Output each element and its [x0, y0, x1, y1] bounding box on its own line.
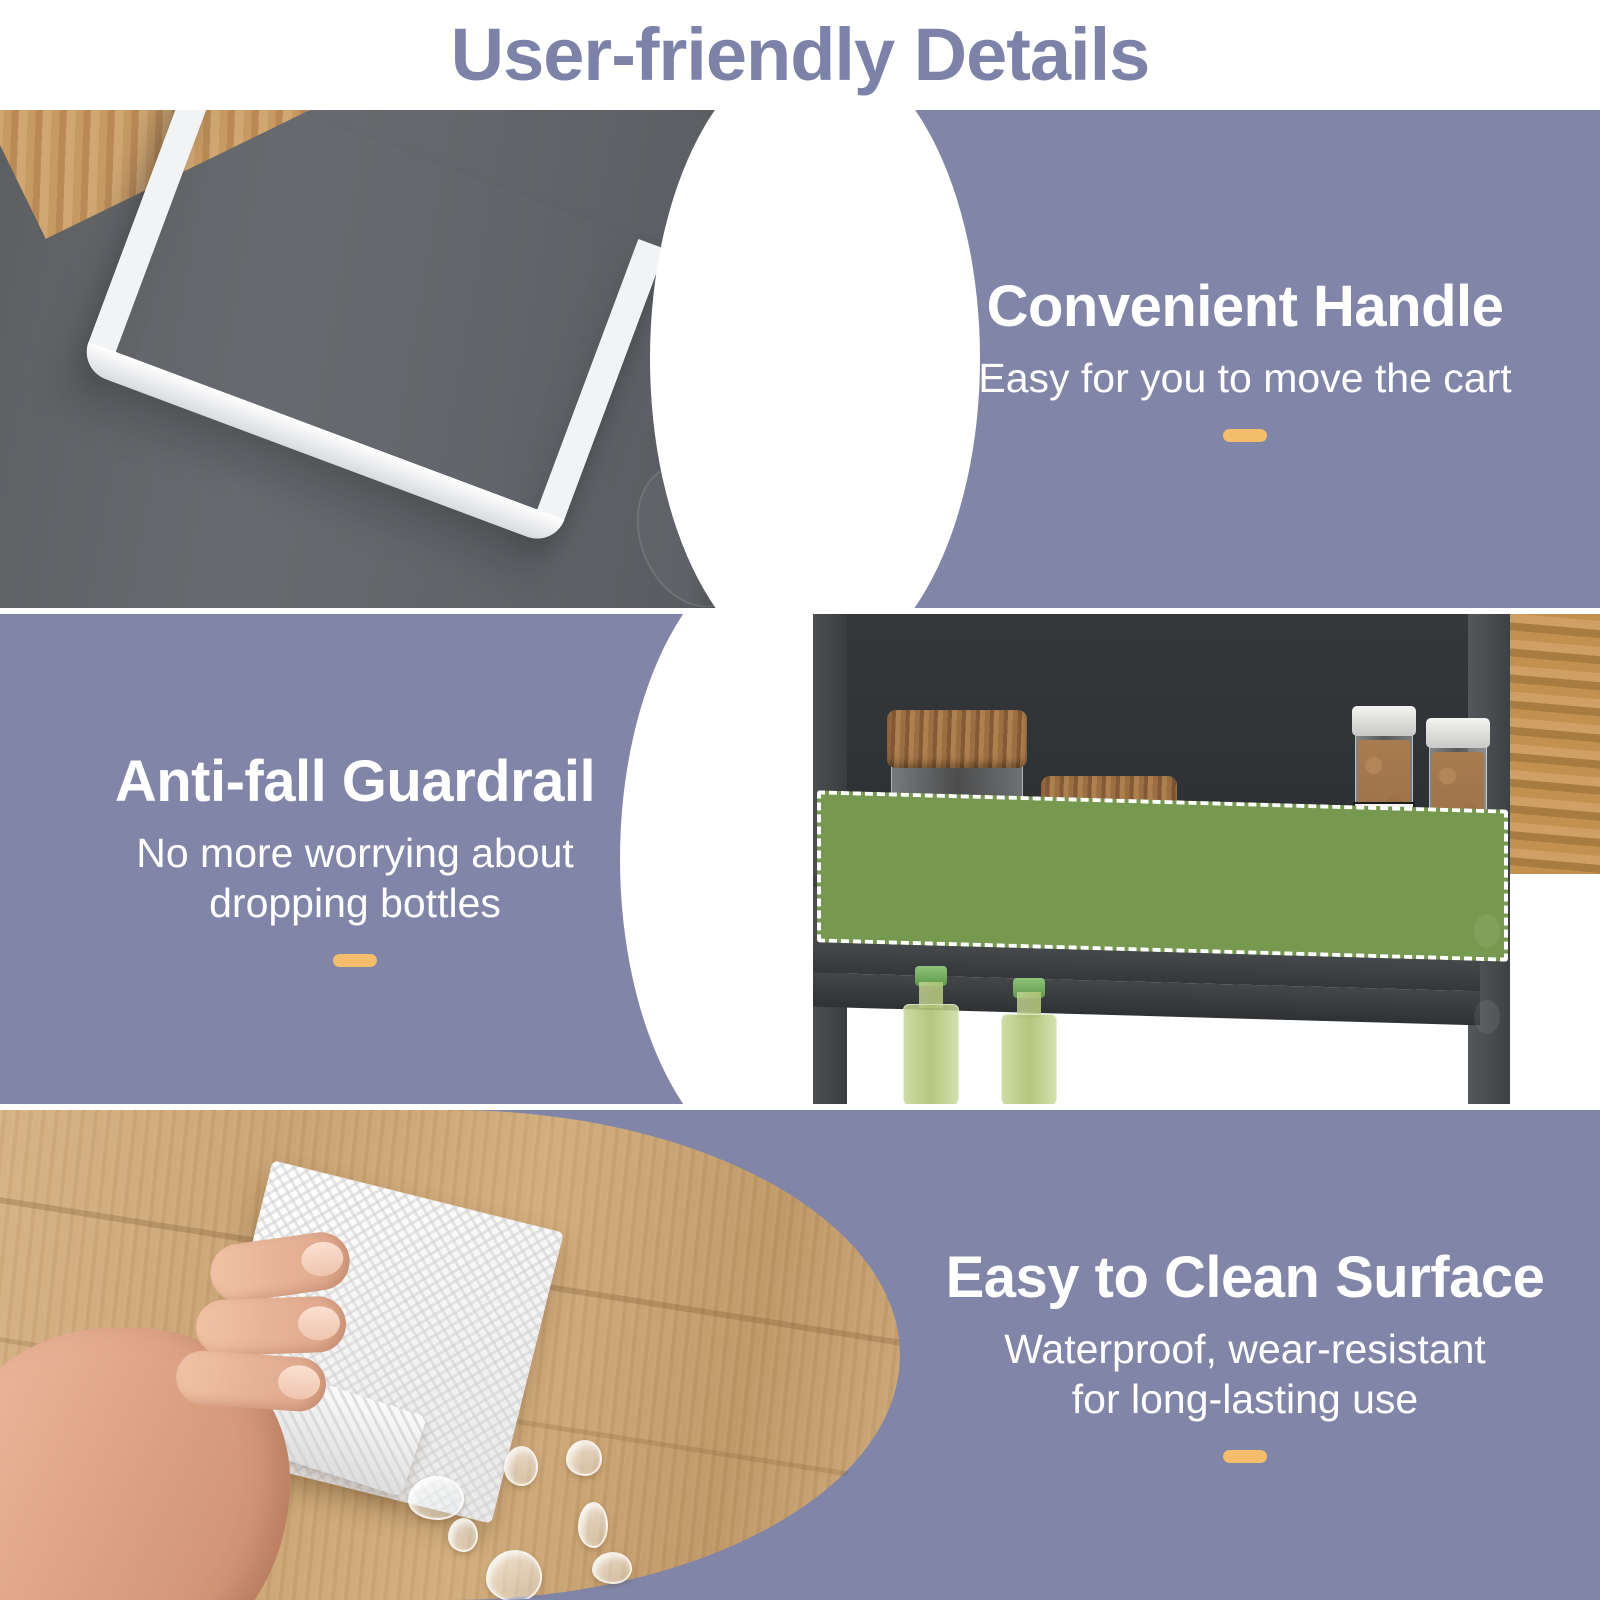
water-droplet — [614, 1588, 642, 1600]
fingernail — [297, 1306, 340, 1341]
feature-subtext-line-2: for long-lasting use — [1072, 1374, 1418, 1424]
feature-subtext-line-1: Easy for you to move the cart — [978, 353, 1511, 403]
feature-heading: Easy to Clean Surface — [946, 1247, 1545, 1310]
page-title: User-friendly Details — [451, 18, 1150, 92]
shelf-unit: SMOKED ALMOND SMOKED ALMOND — [795, 614, 1600, 1104]
spice-bottle-cap — [1352, 706, 1416, 736]
water-droplet — [578, 1502, 608, 1548]
accent-dash — [1223, 429, 1267, 442]
water-droplet — [504, 1446, 538, 1486]
water-droplet — [408, 1476, 464, 1520]
guardrail-photo: SMOKED ALMOND SMOKED ALMOND — [795, 614, 1600, 1104]
shelf-hole-details — [1474, 914, 1504, 1104]
green-bottle — [903, 968, 959, 1104]
feature-heading: Anti-fall Guardrail — [115, 751, 595, 814]
green-bottle — [1001, 980, 1057, 1104]
bottle-body — [1001, 1014, 1057, 1104]
finger — [174, 1349, 327, 1413]
water-droplet — [486, 1550, 542, 1600]
feature-subtext-line-1: Waterproof, wear-resistant — [1004, 1324, 1486, 1374]
guardrail-text-block: Anti-fall Guardrail No more worrying abo… — [0, 614, 700, 1104]
feature-panel-easy-to-clean-surface: Easy to Clean Surface Waterproof, wear-r… — [0, 1110, 1600, 1600]
handle-text-block: Convenient Handle Easy for you to move t… — [900, 110, 1600, 608]
accent-dash — [1223, 1450, 1267, 1463]
feature-subtext-line-1: No more worrying about — [136, 828, 574, 878]
spice-bottle-cap — [1426, 718, 1490, 748]
infographic-page: User-friendly Details Convenient Handle … — [0, 0, 1600, 1600]
guardrail-highlight-callout — [817, 790, 1508, 961]
feature-panel-anti-fall-guardrail: Anti-fall Guardrail No more worrying abo… — [0, 614, 1600, 1104]
feature-subtext-line-2: dropping bottles — [209, 878, 501, 928]
finger — [195, 1295, 347, 1356]
jar-wood-lid — [887, 710, 1027, 768]
fingernail — [299, 1239, 345, 1279]
water-droplet — [448, 1518, 478, 1552]
water-droplet — [566, 1440, 602, 1476]
clean-surface-text-block: Easy to Clean Surface Waterproof, wear-r… — [900, 1110, 1600, 1600]
wood-side-trim — [1508, 614, 1600, 874]
clean-surface-photo — [0, 1110, 900, 1600]
bottle-body — [903, 1004, 959, 1104]
feature-heading: Convenient Handle — [987, 276, 1504, 339]
fingernail — [277, 1364, 321, 1401]
water-droplet — [592, 1552, 632, 1584]
page-title-bar: User-friendly Details — [0, 0, 1600, 110]
feature-panel-convenient-handle: Convenient Handle Easy for you to move t… — [0, 110, 1600, 608]
handle-photo — [0, 110, 795, 608]
accent-dash — [333, 954, 377, 967]
